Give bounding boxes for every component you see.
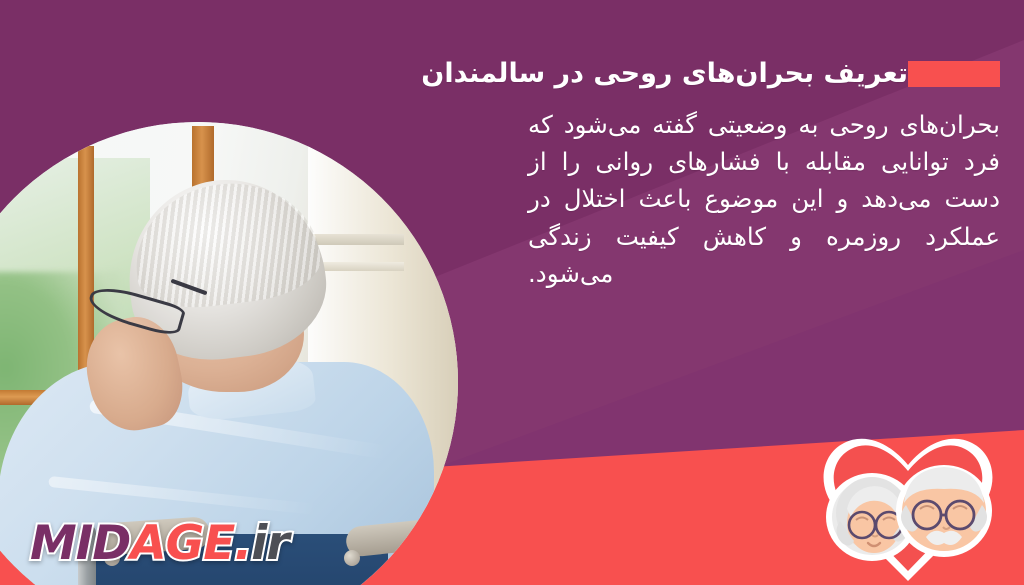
brand-logo-mid: MID	[30, 516, 130, 571]
red-accent-bar	[908, 61, 1000, 87]
page-title: تعریف بحران‌های روحی در سالمندان	[407, 56, 908, 92]
headline-row: تعریف بحران‌های روحی در سالمندان	[0, 38, 1024, 111]
brand-logo-dot: .	[234, 516, 251, 571]
brand-logo[interactable]: MIDAGE.ir	[30, 520, 289, 567]
banner-root: تعریف بحران‌های روحی در سالمندان بحران‌ه…	[0, 0, 1024, 585]
elderly-couple-heart-icon	[810, 425, 1006, 585]
body-paragraph-text: بحران‌های روحی به وضعیتی گفته می‌شود که …	[528, 106, 1000, 292]
brand-logo-tld: ir	[251, 516, 288, 571]
brand-logo-age: AGE	[130, 516, 234, 571]
wheelchair-knob	[344, 550, 360, 566]
body-paragraph: بحران‌های روحی به وضعیتی گفته می‌شود که …	[528, 106, 1000, 292]
grandfather-face	[896, 465, 992, 557]
